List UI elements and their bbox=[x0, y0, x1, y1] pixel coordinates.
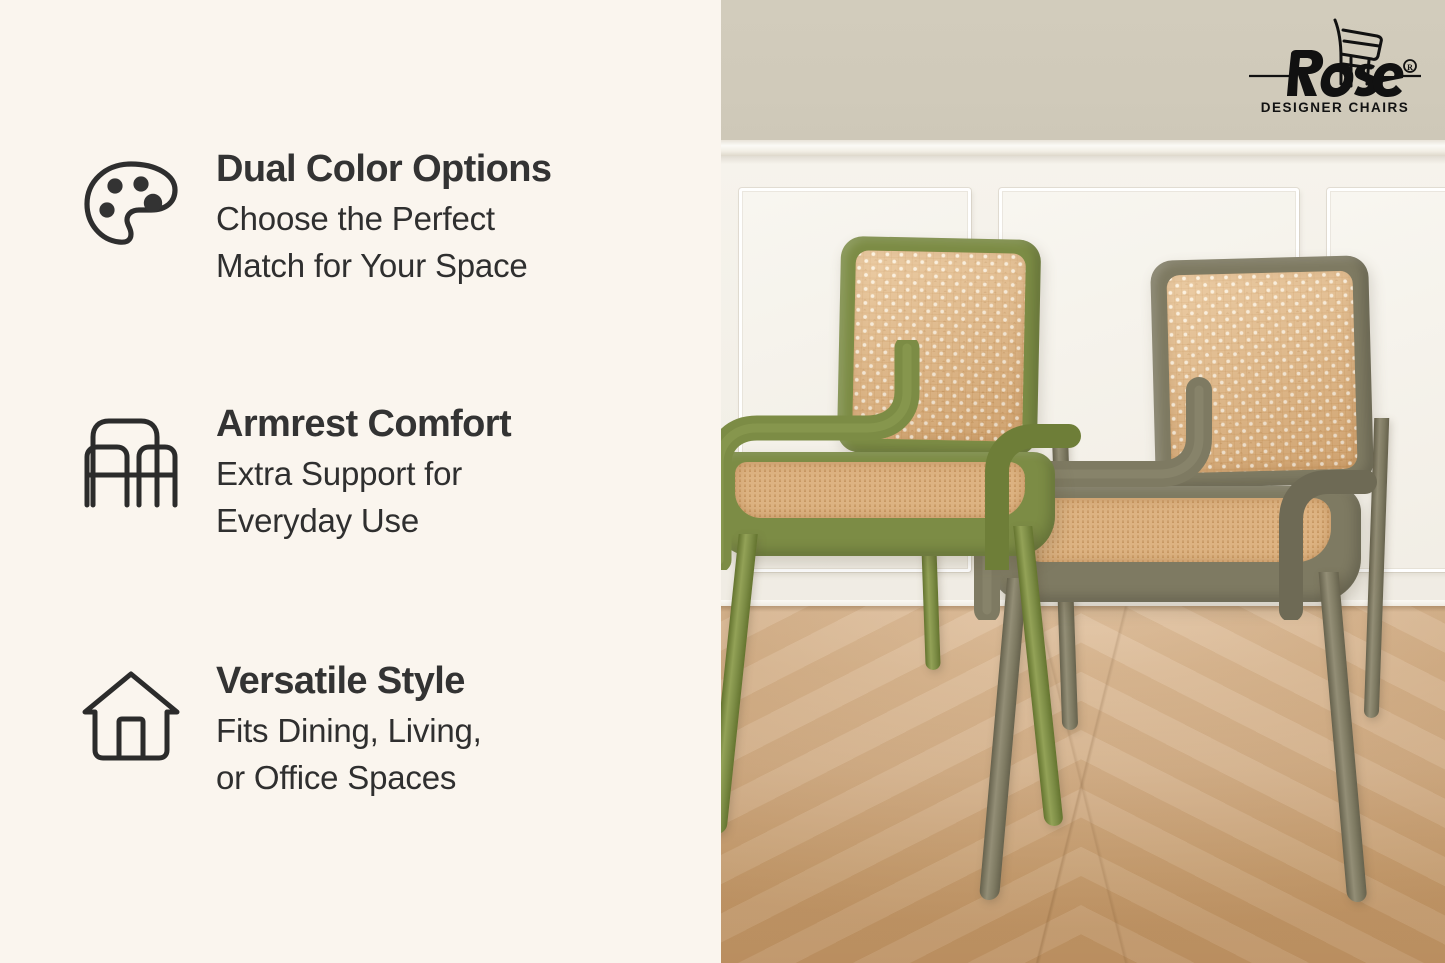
logo-mark: R bbox=[1247, 14, 1423, 106]
feature-subtitle-line: Choose the Perfect bbox=[216, 195, 551, 243]
feature-text-block: Dual Color Options Choose the Perfect Ma… bbox=[190, 150, 551, 290]
feature-title: Armrest Comfort bbox=[216, 405, 511, 444]
feature-item-versatile-style: Versatile Style Fits Dining, Living, or … bbox=[0, 662, 721, 802]
feature-title: Versatile Style bbox=[216, 662, 482, 701]
feature-text-block: Versatile Style Fits Dining, Living, or … bbox=[190, 662, 482, 802]
chair-armrests bbox=[721, 340, 1097, 570]
svg-text:R: R bbox=[1407, 63, 1413, 72]
olive-green-armchair bbox=[721, 0, 1445, 963]
chair-leg bbox=[721, 534, 758, 834]
feature-item-armrest: Armrest Comfort Extra Support for Everyd… bbox=[0, 405, 721, 545]
product-feature-infographic: Dual Color Options Choose the Perfect Ma… bbox=[0, 0, 1445, 963]
feature-subtitle-line: Extra Support for bbox=[216, 450, 511, 498]
product-photo: R DESIGNER CHAIRS bbox=[721, 0, 1445, 963]
feature-text-block: Armrest Comfort Extra Support for Everyd… bbox=[190, 405, 511, 545]
chair-leg bbox=[1013, 526, 1064, 826]
logo-wordmark bbox=[1287, 50, 1403, 97]
feature-subtitle: Fits Dining, Living, or Office Spaces bbox=[216, 707, 482, 802]
brand-logo: R DESIGNER CHAIRS bbox=[1247, 14, 1423, 132]
registered-trademark-icon: R bbox=[1404, 60, 1416, 72]
feature-subtitle-line: Fits Dining, Living, bbox=[216, 707, 482, 755]
feature-subtitle: Choose the Perfect Match for Your Space bbox=[216, 195, 551, 290]
armchair-icon bbox=[72, 405, 190, 525]
feature-subtitle-line: or Office Spaces bbox=[216, 754, 482, 802]
house-icon bbox=[72, 662, 190, 782]
features-panel: Dual Color Options Choose the Perfect Ma… bbox=[0, 0, 721, 963]
paint-palette-icon bbox=[72, 150, 190, 270]
feature-subtitle: Extra Support for Everyday Use bbox=[216, 450, 511, 545]
feature-subtitle-line: Everyday Use bbox=[216, 497, 511, 545]
feature-title: Dual Color Options bbox=[216, 150, 551, 189]
feature-subtitle-line: Match for Your Space bbox=[216, 242, 551, 290]
feature-item-dual-color: Dual Color Options Choose the Perfect Ma… bbox=[0, 150, 721, 290]
